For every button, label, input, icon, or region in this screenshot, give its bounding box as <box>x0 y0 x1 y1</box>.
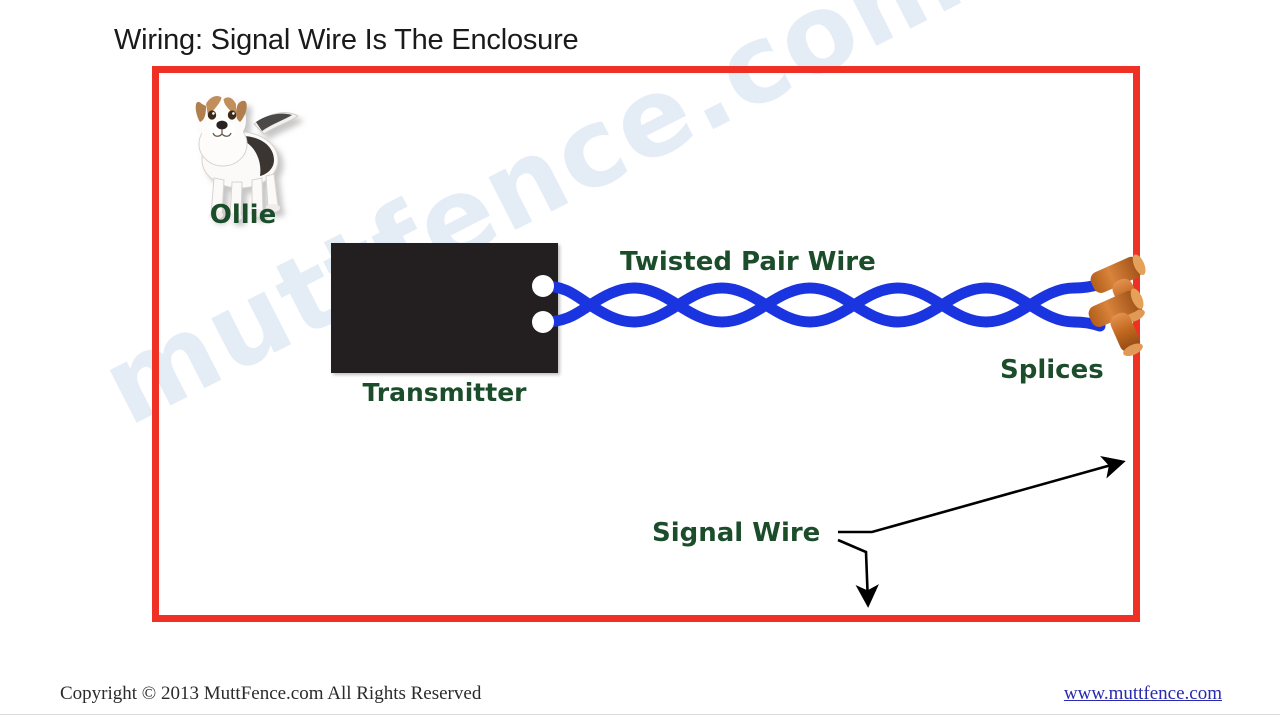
twisted-pair-label: Twisted Pair Wire <box>620 247 876 277</box>
splices-label: Splices <box>1000 355 1104 385</box>
website-link[interactable]: www.muttfence.com <box>1064 683 1222 705</box>
transmitter-label: Transmitter <box>331 378 558 407</box>
copyright-text: Copyright © 2013 MuttFence.com All Right… <box>60 683 481 705</box>
dog-label: Ollie <box>178 200 308 230</box>
page-title: Wiring: Signal Wire Is The Enclosure <box>114 24 579 57</box>
transmitter-box <box>331 243 558 373</box>
slide-canvas: muttfence.com Wiring: Signal Wire Is The… <box>0 0 1280 720</box>
footer-divider <box>0 714 1280 715</box>
signal-wire-label: Signal Wire <box>652 518 820 548</box>
